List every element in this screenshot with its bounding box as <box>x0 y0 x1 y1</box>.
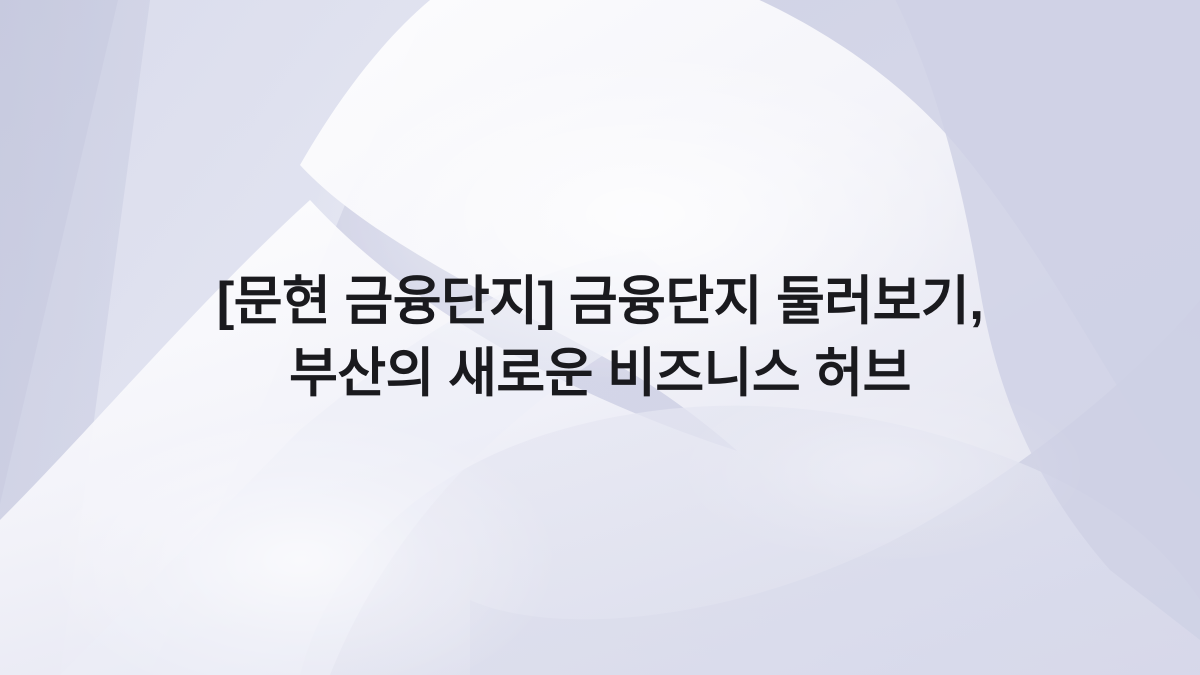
thumbnail-card: [문현 금융단지] 금융단지 둘러보기, 부산의 새로운 비즈니스 허브 <box>0 0 1200 675</box>
title-line-1: [문현 금융단지] 금융단지 둘러보기, <box>217 266 984 337</box>
page-title: [문현 금융단지] 금융단지 둘러보기, 부산의 새로운 비즈니스 허브 <box>0 0 1200 675</box>
title-line-2: 부산의 새로운 비즈니스 허브 <box>289 338 911 409</box>
